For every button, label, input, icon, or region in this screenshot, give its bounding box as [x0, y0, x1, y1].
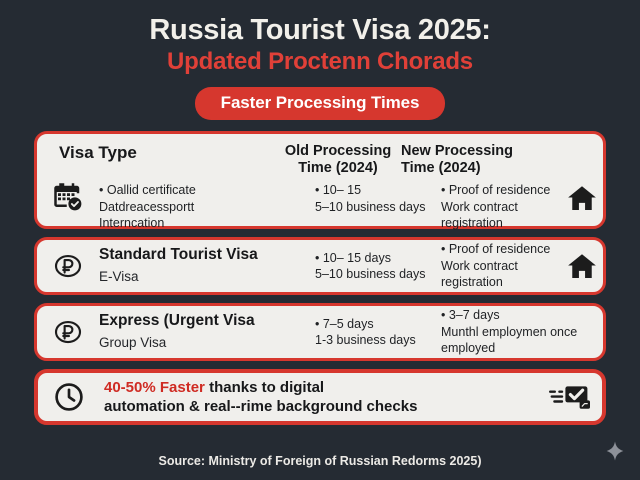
column-header-new: New Processing Time (2024): [401, 143, 551, 176]
visa-subname: Group Visa: [99, 334, 315, 352]
row-new-cell: • Proof of residence Work contract regis…: [441, 241, 550, 291]
cards-container: Visa Type Old Processing Time (2024) New…: [34, 131, 606, 425]
source-footer: Source: Ministry of Foreign of Russian R…: [0, 454, 640, 468]
row-old-line-2: 1-3 business days: [315, 332, 441, 349]
status-badge: Faster Processing Times: [195, 87, 446, 120]
visa-name: Express (Urgent Visa: [99, 312, 315, 331]
row-new-line-3: registration: [441, 215, 550, 232]
column-headers-row: Visa Type Old Processing Time (2024) New…: [37, 143, 603, 176]
ruble-circle-icon: [37, 317, 99, 347]
row-new-line-3: employed: [441, 340, 577, 357]
row-new-line-3: registration: [441, 274, 550, 291]
visa-name: Standard Tourist Visa: [99, 246, 315, 265]
row-old-cell: • 10– 15 days 5–10 business days: [315, 250, 441, 283]
home-icon: [550, 182, 614, 214]
row-type-cell: • Oallid certificate Datdreacessportt In…: [99, 182, 315, 232]
table-row: Express (Urgent Visa Group Visa • 7–5 da…: [34, 303, 606, 361]
row-type-cell: Express (Urgent Visa Group Visa: [99, 312, 315, 352]
page-title: Russia Tourist Visa 2025:: [0, 14, 640, 46]
highlight-text: 40-50% Faster thanks to digital automati…: [100, 378, 538, 417]
sparkle-icon: [604, 440, 626, 462]
highlight-line-2: automation & real--rime background check…: [104, 397, 538, 417]
row-old-line-1: • 10– 15 days: [315, 250, 441, 267]
highlight-card: 40-50% Faster thanks to digital automati…: [34, 369, 606, 425]
row-type-cell: Standard Tourist Visa E-Visa: [99, 246, 315, 286]
row-old-line-1: • 10– 15: [315, 182, 441, 199]
row-old-cell: • 10– 15 5–10 business days: [315, 182, 441, 215]
highlight-rest: thanks to digital: [205, 379, 324, 396]
row-old-line-1: • 7–5 days: [315, 316, 441, 333]
header: Russia Tourist Visa 2025: Updated Procte…: [0, 0, 640, 120]
table-header-card: Visa Type Old Processing Time (2024) New…: [34, 131, 606, 229]
row-new-line-1: • 3–7 days: [441, 307, 577, 324]
row-new-line-1: • Proof of residence: [441, 241, 550, 258]
row-new-cell: • 3–7 days Munthl employmen once employe…: [441, 307, 577, 357]
row-type-line-1: • Oallid certificate: [99, 182, 315, 199]
fast-check-icon: [538, 382, 602, 412]
row-new-line-2: Work contract: [441, 258, 550, 275]
row-type-line-3: Interncation: [99, 215, 315, 232]
clock-icon: [38, 381, 100, 413]
row-old-line-2: 5–10 business days: [315, 199, 441, 216]
row-new-line-2: Munthl employmen once: [441, 324, 577, 341]
highlight-accent: 40-50% Faster: [104, 379, 205, 396]
column-header-type: Visa Type: [37, 143, 275, 176]
row-old-cell: • 7–5 days 1-3 business days: [315, 316, 441, 349]
row-type-line-2: Datdreacessportt: [99, 199, 315, 216]
row-new-cell: • Proof of residence Work contract regis…: [441, 182, 550, 232]
column-header-old: Old Processing Time (2024): [275, 143, 401, 176]
row-old-line-2: 5–10 business days: [315, 266, 441, 283]
visa-subname: E-Visa: [99, 268, 315, 286]
row-new-line-2: Work contract: [441, 199, 550, 216]
calendar-check-icon: [37, 182, 99, 212]
table-row: • Oallid certificate Datdreacessportt In…: [37, 182, 603, 232]
table-row: Standard Tourist Visa E-Visa • 10– 15 da…: [34, 237, 606, 295]
ruble-circle-icon: [37, 251, 99, 281]
badge-container: Faster Processing Times: [0, 87, 640, 120]
page-subtitle: Updated Proctenn Chorads: [0, 48, 640, 76]
row-new-line-1: • Proof of residence: [441, 182, 550, 199]
home-icon: [550, 250, 614, 282]
